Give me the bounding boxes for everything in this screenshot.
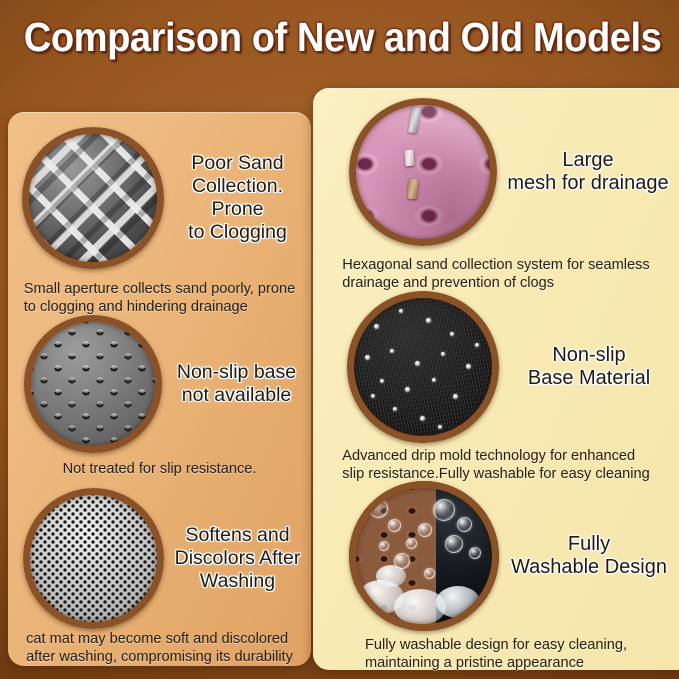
debris-wood-chip bbox=[408, 179, 419, 200]
black-nonslip-fabric-photo bbox=[347, 291, 499, 443]
old-feature-2-heading: Non-slip base not available bbox=[162, 361, 311, 407]
debris-metal-strip bbox=[408, 106, 421, 133]
new-feature-1-heading: Large mesh for drainage bbox=[497, 149, 679, 195]
old-model-panel: Poor Sand Collection. Prone to Clogging … bbox=[8, 112, 311, 666]
old-feature-2-caption: Not treated for slip resistance. bbox=[8, 460, 311, 478]
new-feature-block-1: Large mesh for drainage Hexagonal sand c… bbox=[313, 92, 679, 292]
new-model-panel: Large mesh for drainage Hexagonal sand c… bbox=[313, 88, 679, 670]
new-feature-3-heading: Fully Washable Design bbox=[499, 533, 679, 579]
new-feature-3-caption: Fully washable design for easy cleaning,… bbox=[313, 636, 679, 672]
old-feature-block-3: Softens and Discolors After Washing cat … bbox=[8, 482, 311, 666]
old-feature-block-1: Poor Sand Collection. Prone to Clogging … bbox=[8, 118, 311, 316]
gray-dotted-base-photo bbox=[24, 315, 162, 453]
washable-bubbles-photo bbox=[349, 481, 499, 631]
page-title: Comparison of New and Old Models bbox=[24, 14, 655, 60]
debris-white-pellet bbox=[405, 150, 415, 167]
pink-honeycomb-mesh-photo bbox=[349, 98, 497, 246]
old-feature-block-2: Non-slip base not available Not treated … bbox=[8, 308, 311, 478]
lattice-grid-photo bbox=[22, 127, 164, 269]
new-feature-block-2: Non-slip Base Material Advanced drip mol… bbox=[313, 287, 679, 483]
new-feature-block-3: Fully Washable Design Fully washable des… bbox=[313, 478, 679, 672]
comparison-infographic: Comparison of New and Old Models Poor Sa… bbox=[0, 0, 679, 679]
old-feature-1-heading: Poor Sand Collection. Prone to Clogging bbox=[164, 152, 311, 244]
old-feature-3-heading: Softens and Discolors After Washing bbox=[164, 524, 311, 593]
old-feature-3-caption: cat mat may become soft and discolored a… bbox=[8, 630, 311, 666]
new-feature-2-heading: Non-slip Base Material bbox=[499, 344, 679, 390]
fine-mesh-fabric-photo bbox=[23, 488, 164, 629]
